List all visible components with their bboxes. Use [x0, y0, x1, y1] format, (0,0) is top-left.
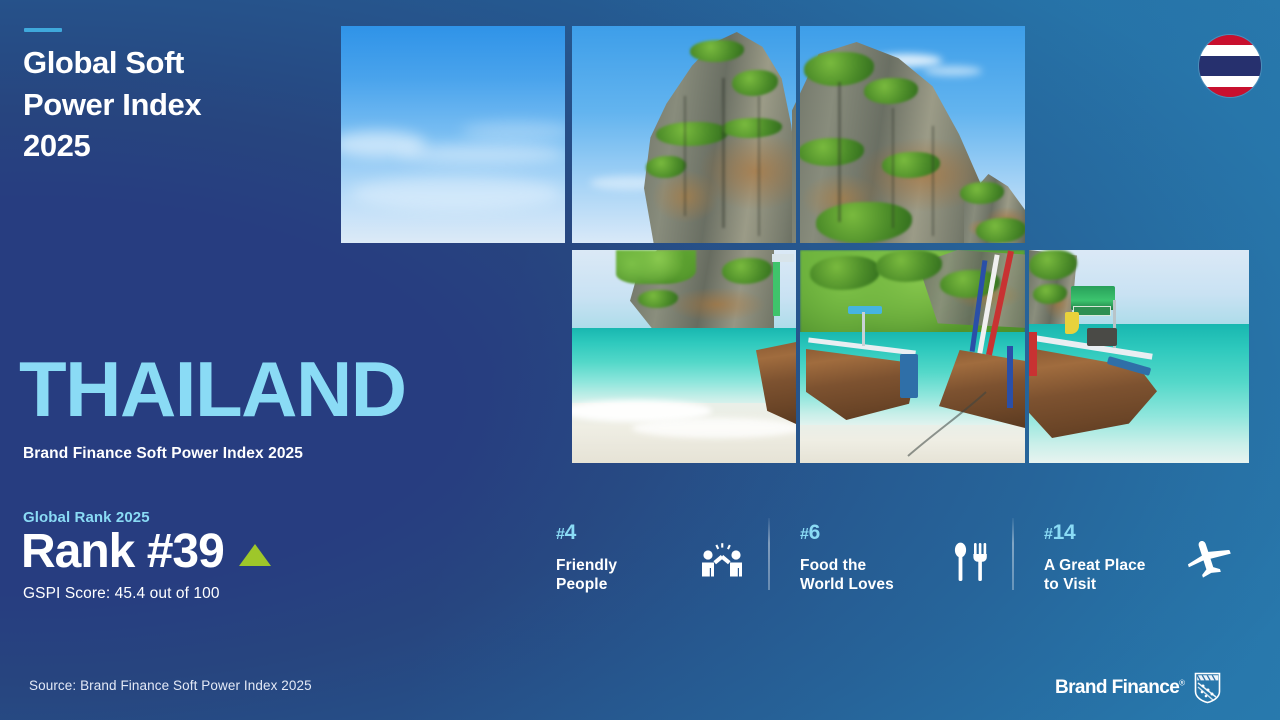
- page-title-line3: 2025: [23, 125, 353, 167]
- metric-divider: [1012, 518, 1014, 590]
- hash-symbol: #: [1044, 526, 1053, 543]
- country-subtitle: Brand Finance Soft Power Index 2025: [23, 445, 303, 463]
- registered-mark: ®: [1179, 679, 1184, 688]
- metric-label-line1: A Great Place: [1044, 556, 1146, 575]
- metric-rank: #14: [1044, 522, 1146, 543]
- metric-rank: #6: [800, 522, 894, 543]
- global-rank-value: Rank #39: [21, 528, 224, 576]
- photo-grid: [341, 26, 1249, 463]
- boat-ribbon: [773, 256, 780, 316]
- page-title-line2: Power Index: [23, 84, 353, 126]
- karst-scene: [800, 26, 1025, 243]
- metric-label-line1: Food the: [800, 556, 894, 575]
- boat-engine-block: [1087, 328, 1117, 346]
- metric-food-world-loves: #6 Food the World Loves: [768, 512, 1012, 608]
- metric-label-line2: People: [556, 575, 617, 594]
- cloud-shape: [396, 144, 565, 164]
- metric-friendly-people: #4 Friendly People: [556, 512, 768, 608]
- cloud-shape: [351, 176, 561, 210]
- cloud-shape: [461, 122, 565, 140]
- wave-foam: [632, 418, 796, 438]
- mooring-rope: [890, 390, 990, 460]
- boat-prow-tip: [772, 254, 794, 262]
- metric-label-line2: World Loves: [800, 575, 894, 594]
- photo-karst-left: [572, 26, 796, 243]
- metric-label: Friendly People: [556, 556, 617, 594]
- boat-canopy: [848, 306, 882, 314]
- hash-symbol: #: [556, 526, 565, 543]
- global-rank-row: Rank #39: [21, 528, 272, 576]
- metric-rank: #4: [556, 522, 617, 543]
- boat-ribbon: [1007, 346, 1013, 408]
- metric-text: #4 Friendly People: [556, 512, 617, 594]
- spoon-fork-icon: [952, 542, 988, 582]
- vegetation: [616, 250, 696, 284]
- page-title: Global Soft Power Index 2025: [23, 42, 353, 167]
- photo-longtail-boat: [1029, 250, 1249, 463]
- brand-name-text: Brand Finance: [1055, 677, 1179, 698]
- cloud-shape: [924, 66, 982, 76]
- brand-finance-wordmark: Brand Finance®: [1055, 677, 1184, 699]
- metric-label: A Great Place to Visit: [1044, 556, 1146, 594]
- rock-streak: [932, 126, 934, 236]
- photo-beach: [572, 250, 796, 463]
- rock-streak: [892, 108, 894, 228]
- global-rank-label: Global Rank 2025: [23, 509, 150, 526]
- brand-finance-crest-icon: [1194, 672, 1221, 704]
- metric-text: #6 Food the World Loves: [800, 512, 894, 594]
- metrics-row: #4 Friendly People #6 Food the World Lov…: [556, 512, 1256, 608]
- rock-streak: [758, 96, 760, 236]
- hash-symbol: #: [800, 526, 809, 543]
- source-note: Source: Brand Finance Soft Power Index 2…: [29, 678, 312, 693]
- photo-sky: [341, 26, 565, 243]
- photo-longtail-boats: [800, 250, 1025, 463]
- boat-canopy-pole: [862, 312, 865, 346]
- metric-rank-number: 14: [1053, 521, 1076, 544]
- trend-up-triangle-icon: [238, 542, 272, 568]
- gspi-score-text: GSPI Score: 45.4 out of 100: [23, 585, 220, 603]
- metric-divider: [768, 518, 770, 590]
- rock-streak: [684, 96, 686, 216]
- high-five-people-icon: [700, 542, 744, 580]
- metric-label-line1: Friendly: [556, 556, 617, 575]
- rock-streak: [722, 78, 725, 228]
- metric-great-place-to-visit: #14 A Great Place to Visit: [1012, 512, 1256, 608]
- accent-dash: [24, 28, 62, 32]
- metric-text: #14 A Great Place to Visit: [1044, 512, 1146, 594]
- metric-rank-number: 4: [565, 521, 576, 544]
- karst-scene: [572, 26, 796, 243]
- brand-finance-logo: Brand Finance®: [1055, 672, 1221, 704]
- metric-label: Food the World Loves: [800, 556, 894, 594]
- boat-yellow-flag: [1065, 312, 1079, 334]
- metric-rank-number: 6: [809, 521, 820, 544]
- airplane-icon: [1186, 538, 1232, 578]
- boat-ribbon: [1029, 332, 1037, 376]
- page-title-line1: Global Soft: [23, 42, 353, 84]
- metric-label-line2: to Visit: [1044, 575, 1146, 594]
- rock-streak: [838, 82, 841, 222]
- photo-karst-right: [800, 26, 1025, 243]
